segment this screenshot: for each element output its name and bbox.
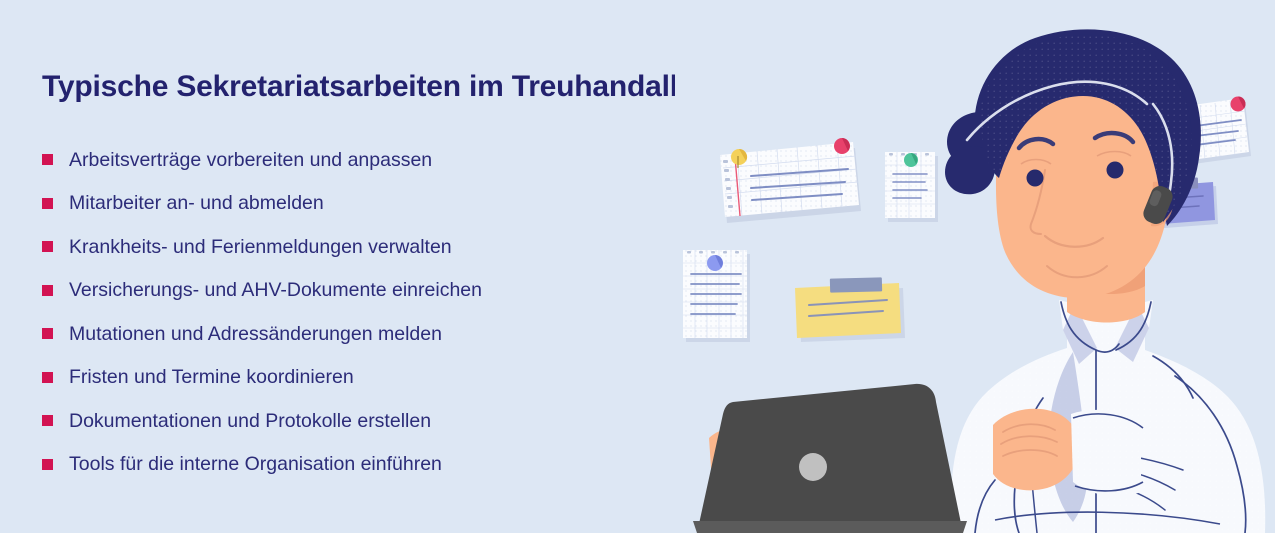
list-item: Tools für die interne Organisation einfü…	[42, 443, 482, 487]
bullet-square-icon	[42, 415, 53, 426]
eye-left	[1027, 170, 1044, 187]
pushpin-red-icon	[834, 138, 850, 154]
bullet-square-icon	[42, 328, 53, 339]
list-item-label: Dokumentationen und Protokolle erstellen	[69, 409, 431, 433]
eye-right	[1107, 162, 1124, 179]
list-item-label: Fristen und Termine koordinieren	[69, 365, 354, 389]
list-item-label: Tools für die interne Organisation einfü…	[69, 452, 442, 476]
bullet-square-icon	[42, 372, 53, 383]
grid-note-large	[720, 138, 861, 223]
bullet-square-icon	[42, 241, 53, 252]
task-list: Arbeitsverträge vorbereiten und anpassen…	[42, 138, 482, 486]
grid-note-left	[683, 250, 750, 342]
list-item: Mitarbeiter an- und abmelden	[42, 182, 482, 226]
list-item-label: Arbeitsverträge vorbereiten und anpassen	[69, 148, 432, 172]
list-item-label: Versicherungs- und AHV-Dokumente einreic…	[69, 278, 482, 302]
pushpin-green-icon	[904, 153, 918, 167]
text-column: Typische Sekretariatsarbeiten im Treuhan…	[0, 0, 700, 533]
man-at-laptop-illustration	[675, 0, 1275, 533]
list-item: Versicherungs- und AHV-Dokumente einreic…	[42, 269, 482, 313]
bullet-square-icon	[42, 459, 53, 470]
bullet-square-icon	[42, 154, 53, 165]
list-item: Dokumentationen und Protokolle erstellen	[42, 399, 482, 443]
list-item-label: Mitarbeiter an- und abmelden	[69, 191, 324, 215]
pushpin-blue-icon	[707, 255, 723, 271]
infographic-canvas: Typische Sekretariatsarbeiten im Treuhan…	[0, 0, 1275, 533]
list-item: Krankheits- und Ferienmeldungen verwalte…	[42, 225, 482, 269]
laptop-logo-icon	[799, 453, 827, 481]
list-item: Fristen und Termine koordinieren	[42, 356, 482, 400]
grid-note-small-top	[885, 152, 938, 222]
bullet-square-icon	[42, 285, 53, 296]
page-title: Typische Sekretariatsarbeiten im Treuhan…	[42, 69, 722, 105]
list-item: Arbeitsverträge vorbereiten und anpassen	[42, 138, 482, 182]
list-item-label: Krankheits- und Ferienmeldungen verwalte…	[69, 235, 452, 259]
list-item-label: Mutationen und Adressänderungen melden	[69, 322, 442, 346]
pushpin-red-icon	[1231, 97, 1246, 112]
laptop	[693, 384, 967, 533]
bullet-square-icon	[42, 198, 53, 209]
list-item: Mutationen und Adressänderungen melden	[42, 312, 482, 356]
